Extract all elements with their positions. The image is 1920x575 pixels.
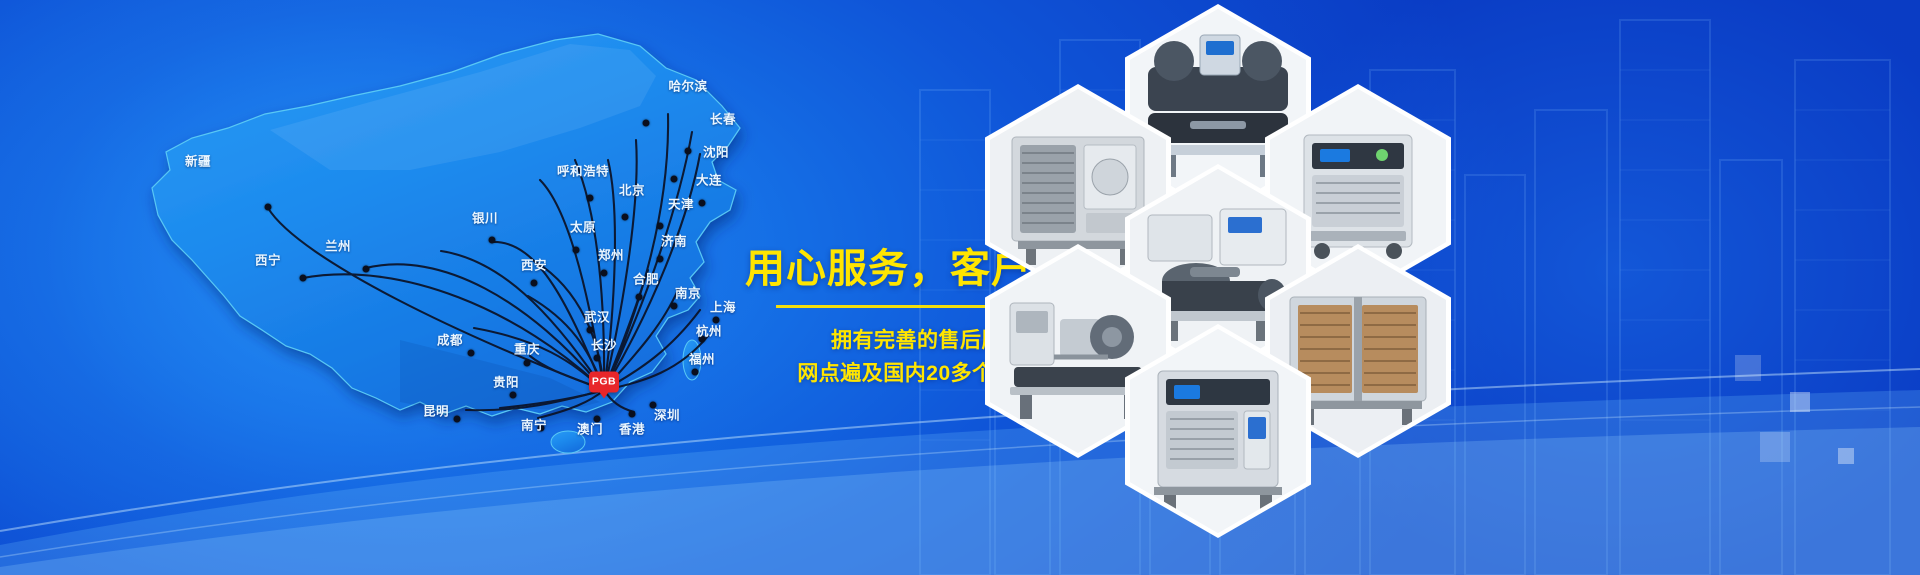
map-city-dot[interactable] xyxy=(489,237,496,244)
map-city-label[interactable]: 澳门 xyxy=(577,419,603,438)
map-city-label[interactable]: 长沙 xyxy=(591,334,617,353)
map-city-dot[interactable] xyxy=(363,265,370,272)
map-city-label[interactable]: 武汉 xyxy=(584,306,610,325)
map-city-label[interactable]: 南宁 xyxy=(521,414,547,433)
map-city-label[interactable]: 上海 xyxy=(710,297,736,316)
map-city-dot[interactable] xyxy=(692,368,699,375)
map-city-label[interactable]: 沈阳 xyxy=(703,142,729,161)
map-city-dot[interactable] xyxy=(531,279,538,286)
map-city-label[interactable]: 大连 xyxy=(696,170,722,189)
map-city-label[interactable]: 福州 xyxy=(689,348,715,367)
map-city-label[interactable]: 贵阳 xyxy=(493,372,519,391)
map-city-label[interactable]: 深圳 xyxy=(654,405,680,424)
map-city-label[interactable]: 天津 xyxy=(668,193,694,212)
map-city-label[interactable]: 西安 xyxy=(521,254,547,273)
map-city-label[interactable]: 太原 xyxy=(570,217,596,236)
map-city-dot[interactable] xyxy=(468,350,475,357)
map-city-dot[interactable] xyxy=(636,293,643,300)
map-city-dot[interactable] xyxy=(265,204,272,211)
map-city-dot[interactable] xyxy=(629,411,636,418)
map-city-dot[interactable] xyxy=(699,199,706,206)
map-city-label[interactable]: 南京 xyxy=(675,283,701,302)
map-city-dot[interactable] xyxy=(510,392,517,399)
decor-square-1 xyxy=(1735,355,1761,381)
map-city-label[interactable]: 银川 xyxy=(472,207,498,226)
map-city-label[interactable]: 合肥 xyxy=(633,268,659,287)
map-city-label[interactable]: 呼和浩特 xyxy=(557,160,609,179)
map-city-label[interactable]: 新疆 xyxy=(185,151,211,170)
map-city-dot[interactable] xyxy=(594,354,601,361)
map-city-dot[interactable] xyxy=(573,246,580,253)
map-city-dot[interactable] xyxy=(300,274,307,281)
map-city-dot[interactable] xyxy=(685,148,692,155)
map-city-label[interactable]: 香港 xyxy=(619,419,645,438)
map-city-label[interactable]: 哈尔滨 xyxy=(668,76,707,95)
china-map: 新疆哈尔滨长春沈阳呼和浩特北京天津大连银川太原兰州西宁西安郑州济南合肥南京上海武… xyxy=(100,10,800,480)
map-city-label[interactable]: 重庆 xyxy=(514,339,540,358)
map-city-label[interactable]: 杭州 xyxy=(696,320,722,339)
map-city-label[interactable]: 郑州 xyxy=(598,245,624,264)
map-city-label[interactable]: 济南 xyxy=(661,231,687,250)
map-city-label[interactable]: 长春 xyxy=(710,109,736,128)
map-city-dot[interactable] xyxy=(454,415,461,422)
decor-square-3 xyxy=(1760,432,1790,462)
decor-square-4 xyxy=(1838,448,1854,464)
decor-square-2 xyxy=(1790,392,1810,412)
map-city-label[interactable]: 北京 xyxy=(619,179,645,198)
map-city-dot[interactable] xyxy=(601,270,608,277)
map-city-label[interactable]: 昆明 xyxy=(423,400,449,419)
product-hex-grid xyxy=(975,0,1595,575)
map-city-dot[interactable] xyxy=(657,223,664,230)
map-city-dot[interactable] xyxy=(643,119,650,126)
map-city-dot[interactable] xyxy=(524,359,531,366)
map-city-label[interactable]: 兰州 xyxy=(325,236,351,255)
service-network-banner: 新疆哈尔滨长春沈阳呼和浩特北京天津大连银川太原兰州西宁西安郑州济南合肥南京上海武… xyxy=(0,0,1920,575)
map-city-dot[interactable] xyxy=(671,303,678,310)
map-city-dot[interactable] xyxy=(587,195,594,202)
map-city-dot[interactable] xyxy=(657,256,664,263)
map-city-dot[interactable] xyxy=(587,326,594,333)
cabinet-water-chiller-photo xyxy=(1130,329,1306,533)
hub-marker-pgb[interactable]: PGB xyxy=(589,372,619,393)
map-city-dot[interactable] xyxy=(622,213,629,220)
map-city-label[interactable]: 成都 xyxy=(437,330,463,349)
map-city-label[interactable]: 西宁 xyxy=(255,250,281,269)
map-city-dot[interactable] xyxy=(671,176,678,183)
